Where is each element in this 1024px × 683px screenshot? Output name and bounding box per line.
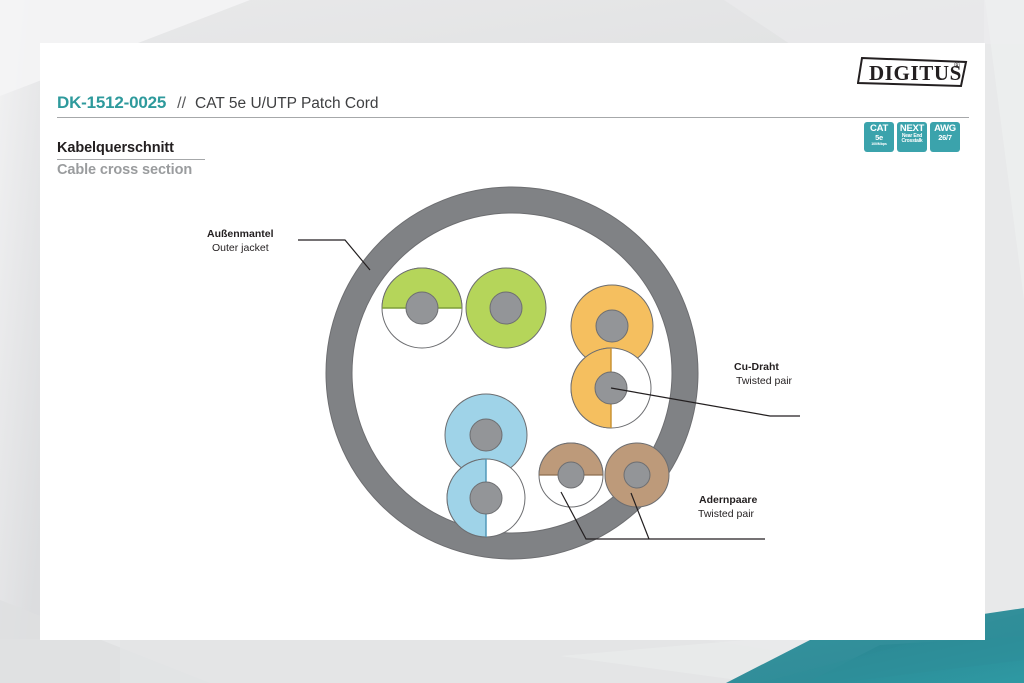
callout-outer-jacket-en: Outer jacket bbox=[212, 242, 269, 254]
callout-outer-jacket-de: Außenmantel bbox=[207, 228, 274, 240]
brown-solid-copper-core bbox=[624, 462, 650, 488]
green-striped-copper-core bbox=[406, 292, 438, 324]
callout-twisted-pair-de: Adernpaare bbox=[699, 494, 758, 506]
cable-cross-section-diagram: Außenmantel Outer jacket Cu-Draht Twiste… bbox=[40, 43, 985, 640]
callout-cu-wire-de: Cu-Draht bbox=[734, 361, 779, 373]
callout-cu-wire-en: Twisted pair bbox=[736, 375, 793, 387]
green-striped-wire bbox=[382, 268, 462, 348]
green-solid-copper-core bbox=[490, 292, 522, 324]
callout-twisted-pair-en: Twisted pair bbox=[698, 508, 755, 520]
orange-solid-copper-core bbox=[596, 310, 628, 342]
brown-striped-wire bbox=[539, 443, 603, 507]
brown-solid-wire bbox=[605, 443, 669, 507]
blue-striped-copper-core bbox=[470, 482, 502, 514]
brown-striped-copper-core bbox=[558, 462, 584, 488]
green-solid-wire bbox=[466, 268, 546, 348]
blue-solid-copper-core bbox=[470, 419, 502, 451]
callout-outer-jacket: Außenmantel Outer jacket bbox=[207, 228, 370, 270]
blue-striped-wire bbox=[447, 459, 525, 537]
